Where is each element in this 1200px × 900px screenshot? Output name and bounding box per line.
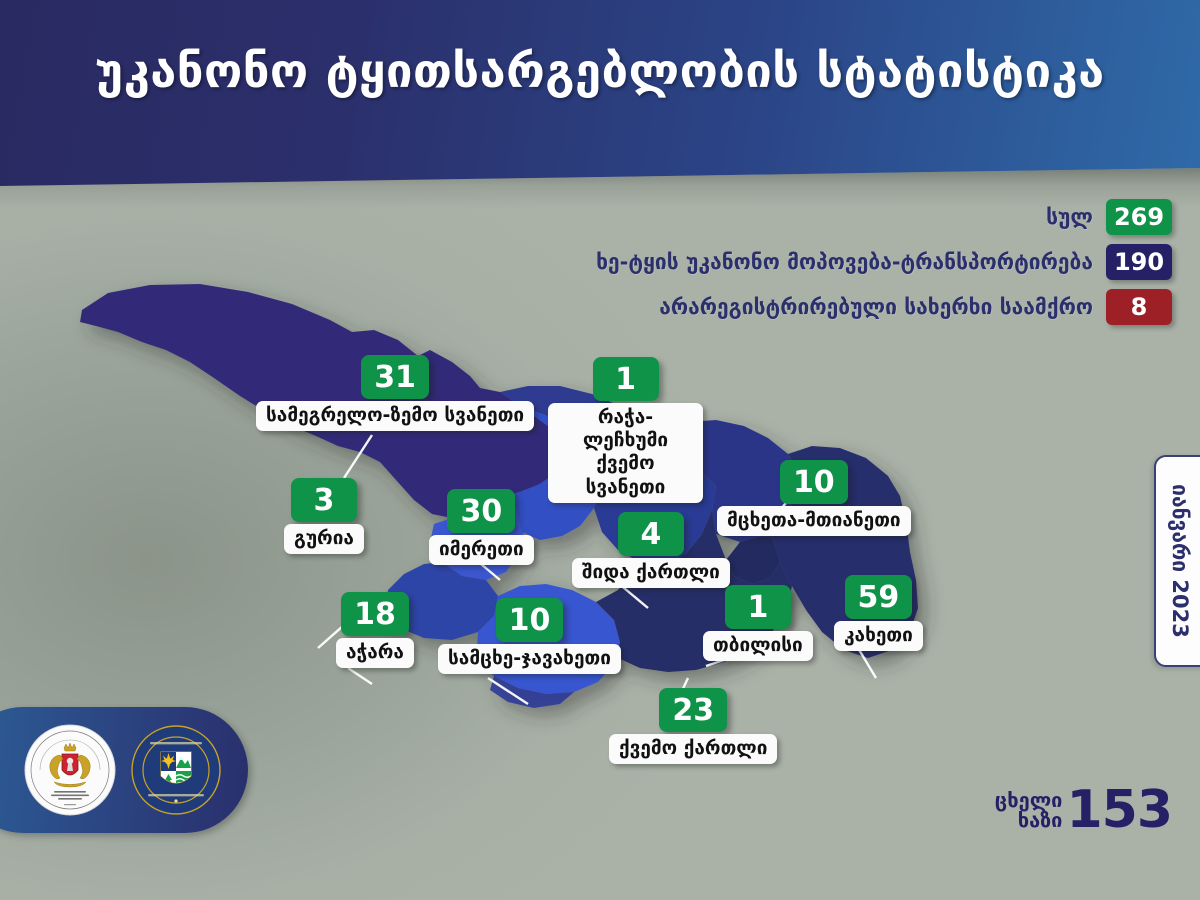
marker-count-racha-lechkhumi-kvemo-svaneti: 1 — [593, 357, 659, 401]
marker-guria[interactable]: 3 გურია — [284, 478, 364, 554]
hotline: ცხელი ხაზი 153 — [995, 780, 1172, 840]
marker-adjara[interactable]: 18 აჭარა — [336, 592, 414, 668]
marker-count-kvemo-kartli: 23 — [659, 688, 727, 732]
marker-label-kakheti: კახეთი — [834, 621, 923, 651]
marker-label-samegrelo-zemo-svaneti: სამეგრელო-ზემო სვანეთი — [256, 401, 534, 431]
marker-kakheti[interactable]: 59 კახეთი — [834, 575, 923, 651]
legend-label-total: სულ — [1046, 205, 1093, 229]
marker-label-mtskheta-mtianeti: მცხეთა-მთიანეთი — [717, 506, 911, 536]
marker-count-adjara: 18 — [341, 592, 409, 636]
marker-count-guria: 3 — [291, 478, 357, 522]
hotline-words: ცხელი ხაზი — [995, 790, 1063, 830]
legend-row-illegal-logging-transport: ხე-ტყის უკანონო მოპოვება-ტრანსპორტირება … — [596, 244, 1172, 280]
legend-row-unregistered-sawmill: არარეგისტრირებული სახერხი საამქრო 8 — [596, 289, 1172, 325]
legend: სულ 269 ხე-ტყის უკანონო მოპოვება-ტრანსპო… — [596, 199, 1172, 334]
marker-label-kvemo-kartli: ქვემო ქართლი — [609, 734, 777, 764]
marker-count-mtskheta-mtianeti: 10 — [780, 460, 848, 504]
marker-racha-lechkhumi-kvemo-svaneti[interactable]: 1 რაჭა-ლეჩხუმი ქვემო სვანეთი — [548, 357, 703, 503]
marker-label-imereti: იმერეთი — [429, 535, 534, 565]
marker-samegrelo-zemo-svaneti[interactable]: 31 სამეგრელო-ზემო სვანეთი — [256, 355, 534, 431]
hotline-line1: ცხელი — [995, 790, 1063, 810]
marker-count-samegrelo-zemo-svaneti: 31 — [361, 355, 429, 399]
marker-label-adjara: აჭარა — [336, 638, 414, 668]
legend-chip-illegal-logging-transport: 190 — [1106, 244, 1172, 280]
marker-label-racha-lechkhumi-kvemo-svaneti: რაჭა-ლეჩხუმი ქვემო სვანეთი — [548, 403, 703, 503]
legend-chip-unregistered-sawmill: 8 — [1106, 289, 1172, 325]
hotline-number: 153 — [1066, 780, 1172, 840]
date-tab-label: იანვარი 2023 — [1168, 484, 1192, 638]
page-title: უკანონო ტყითსარგებლობის სტატისტიკა — [0, 46, 1200, 98]
marker-imereti[interactable]: 30 იმერეთი — [429, 489, 534, 565]
ministry-of-environmental-protection-and-agriculture-emblem: ​ — [24, 724, 116, 816]
marker-count-samtskhe-javakheti: 10 — [496, 598, 564, 642]
marker-label-tbilisi: თბილისი — [703, 631, 813, 661]
department-of-environmental-supervision-emblem — [130, 724, 222, 816]
marker-count-shida-kartli: 4 — [618, 512, 684, 556]
logo-bar: ​ — [0, 707, 248, 833]
legend-chip-total: 269 — [1106, 199, 1172, 235]
marker-count-tbilisi: 1 — [725, 585, 791, 629]
marker-label-guria: გურია — [284, 524, 364, 554]
legend-label-unregistered-sawmill: არარეგისტრირებული სახერხი საამქრო — [659, 295, 1093, 319]
legend-label-illegal-logging-transport: ხე-ტყის უკანონო მოპოვება-ტრანსპორტირება — [596, 250, 1093, 274]
marker-tbilisi[interactable]: 1 თბილისი — [703, 585, 813, 661]
marker-count-imereti: 30 — [447, 489, 515, 533]
marker-label-samtskhe-javakheti: სამცხე-ჯავახეთი — [438, 644, 621, 674]
marker-samtskhe-javakheti[interactable]: 10 სამცხე-ჯავახეთი — [438, 598, 621, 674]
marker-kvemo-kartli[interactable]: 23 ქვემო ქართლი — [609, 688, 777, 764]
marker-label-shida-kartli: შიდა ქართლი — [572, 558, 730, 588]
marker-mtskheta-mtianeti[interactable]: 10 მცხეთა-მთიანეთი — [717, 460, 911, 536]
marker-shida-kartli[interactable]: 4 შიდა ქართლი — [572, 512, 730, 588]
hotline-line2: ხაზი — [995, 810, 1063, 830]
date-tab: იანვარი 2023 — [1154, 455, 1200, 667]
marker-count-kakheti: 59 — [845, 575, 913, 619]
legend-row-total: სულ 269 — [596, 199, 1172, 235]
